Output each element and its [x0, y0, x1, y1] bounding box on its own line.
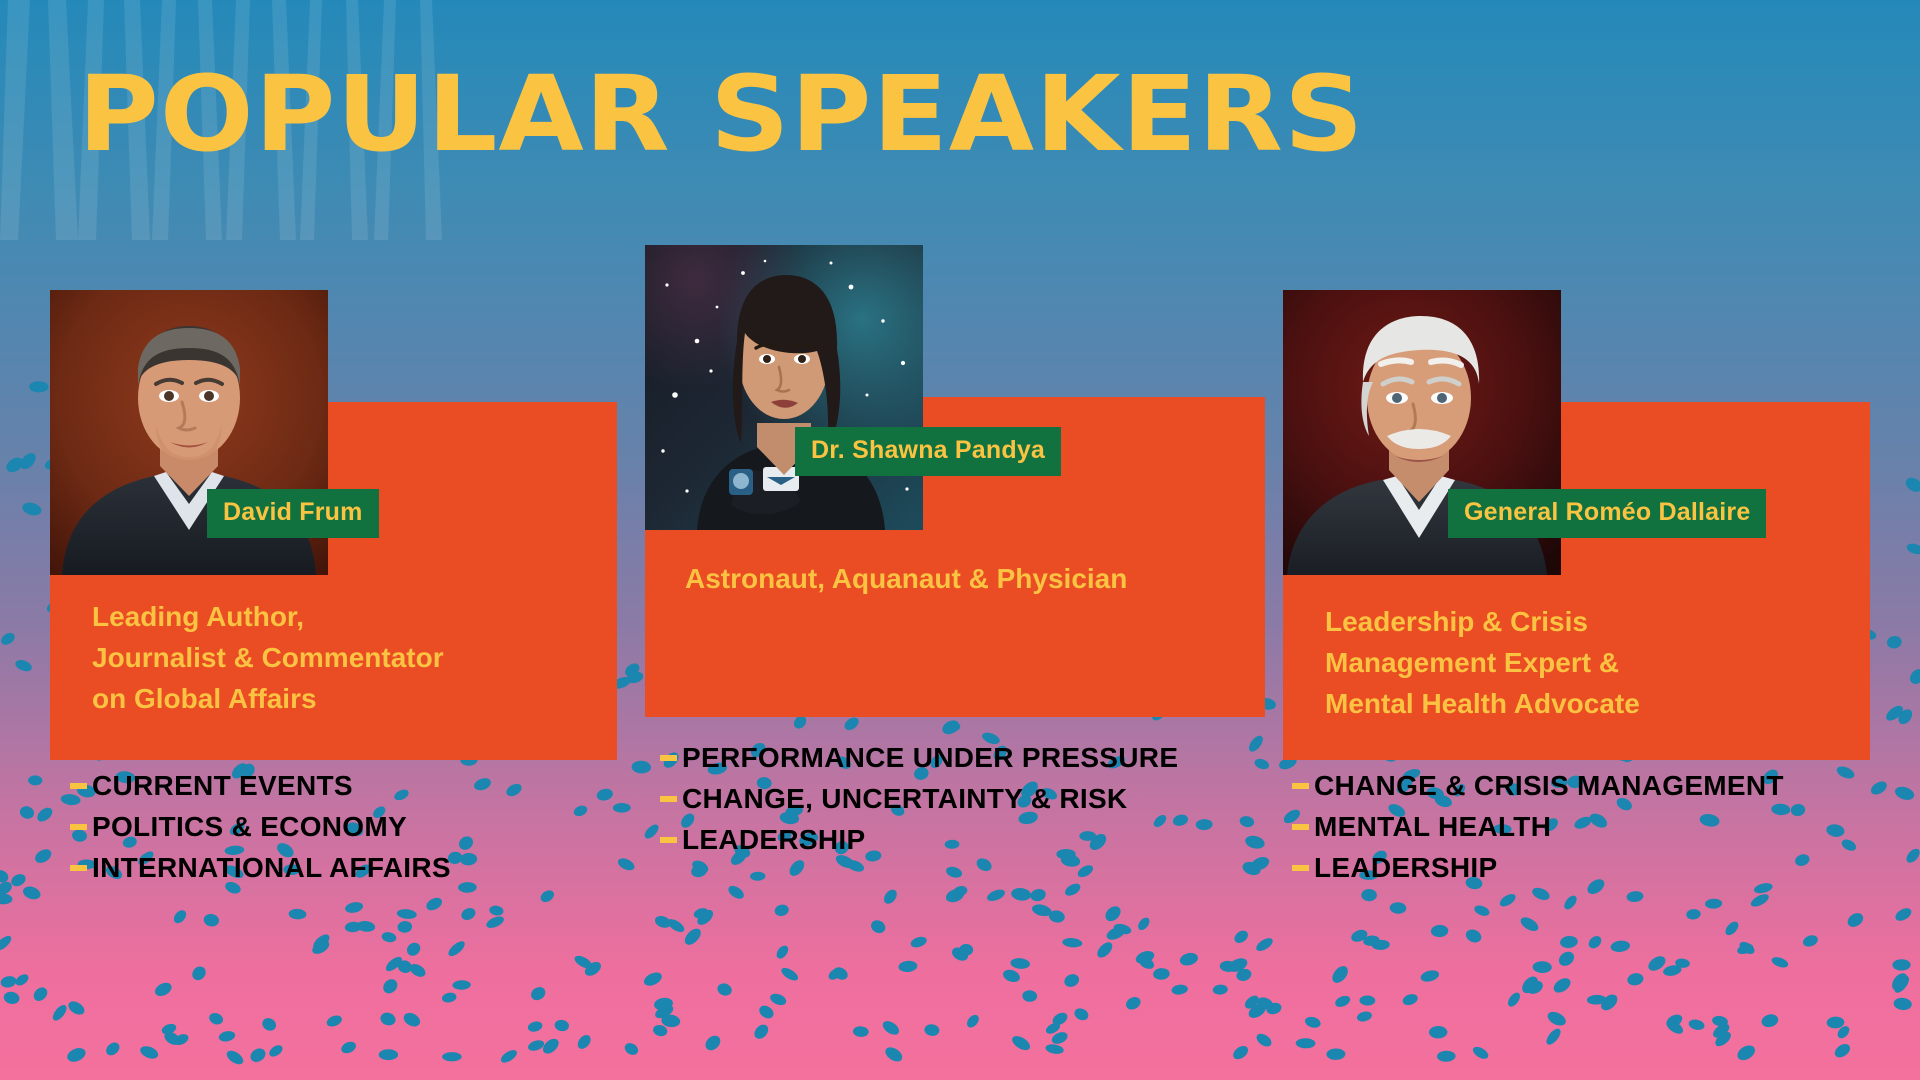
topic-label: POLITICS & ECONOMY — [92, 806, 407, 847]
speaker-role-2: Astronaut, Aquanaut & Physician — [685, 558, 1127, 599]
dash-bullet-icon — [1292, 783, 1309, 789]
topic-item: CURRENT EVENTS — [70, 765, 451, 806]
dash-bullet-icon — [70, 865, 87, 871]
dash-bullet-icon — [1292, 865, 1309, 871]
topic-item: MENTAL HEALTH — [1292, 806, 1784, 847]
speaker-role-1: Leading Author, Journalist & Commentator… — [92, 596, 444, 719]
speaker-name-badge-1: David Frum — [207, 489, 379, 538]
speaker-photo-2 — [645, 245, 923, 530]
speaker-name-badge-3: General Roméo Dallaire — [1448, 489, 1766, 538]
dash-bullet-icon — [660, 755, 677, 761]
speaker-topics-1: CURRENT EVENTS POLITICS & ECONOMY INTERN… — [70, 765, 451, 888]
topic-label: LEADERSHIP — [682, 819, 865, 860]
topic-label: CHANGE, UNCERTAINTY & RISK — [682, 778, 1127, 819]
topic-item: PERFORMANCE UNDER PRESSURE — [660, 737, 1178, 778]
topic-label: INTERNATIONAL AFFAIRS — [92, 847, 451, 888]
topic-item: CHANGE, UNCERTAINTY & RISK — [660, 778, 1178, 819]
speaker-topics-3: CHANGE & CRISIS MANAGEMENT MENTAL HEALTH… — [1292, 765, 1784, 888]
topic-item: INTERNATIONAL AFFAIRS — [70, 847, 451, 888]
speaker-role-3: Leadership & Crisis Management Expert & … — [1325, 601, 1640, 724]
page-title: POPULAR SPEAKERS — [78, 62, 1364, 166]
topic-item: LEADERSHIP — [1292, 847, 1784, 888]
dash-bullet-icon — [70, 824, 87, 830]
dash-bullet-icon — [660, 796, 677, 802]
topic-label: CURRENT EVENTS — [92, 765, 353, 806]
topic-label: LEADERSHIP — [1314, 847, 1497, 888]
speaker-topics-2: PERFORMANCE UNDER PRESSURE CHANGE, UNCER… — [660, 737, 1178, 860]
dash-bullet-icon — [660, 837, 677, 843]
topic-label: CHANGE & CRISIS MANAGEMENT — [1314, 765, 1784, 806]
topic-item: POLITICS & ECONOMY — [70, 806, 451, 847]
topic-item: CHANGE & CRISIS MANAGEMENT — [1292, 765, 1784, 806]
speaker-name-badge-2: Dr. Shawna Pandya — [795, 427, 1061, 476]
topic-label: PERFORMANCE UNDER PRESSURE — [682, 737, 1178, 778]
dash-bullet-icon — [70, 783, 87, 789]
topic-item: LEADERSHIP — [660, 819, 1178, 860]
dash-bullet-icon — [1292, 824, 1309, 830]
topic-label: MENTAL HEALTH — [1314, 806, 1551, 847]
